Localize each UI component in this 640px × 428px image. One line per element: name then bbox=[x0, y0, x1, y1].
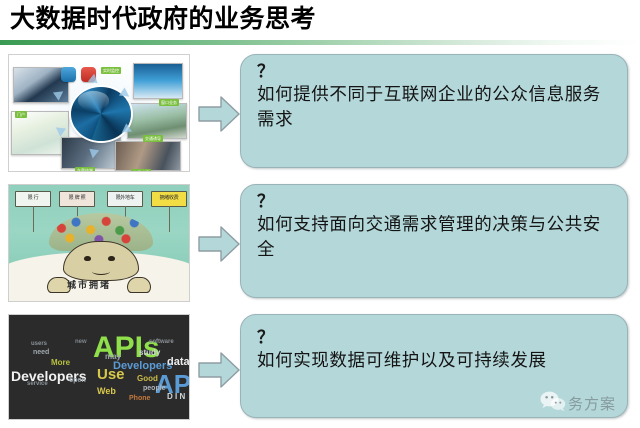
hub-tag: 交通诱导 bbox=[143, 135, 163, 142]
question-text: 如何实现数据可维护以及可持续发展 bbox=[257, 349, 613, 374]
flow-arrow-3 bbox=[197, 350, 241, 390]
word-cloud-word: open bbox=[69, 377, 86, 384]
hub-photo-smartphones bbox=[133, 63, 183, 99]
question-mark: ？ bbox=[257, 63, 613, 80]
question-mark: ？ bbox=[257, 329, 613, 346]
content-row: 实时监控 窗口业务 车载终端 出行广播 交通诱导 门户 ？ 如何提供不同于互联网… bbox=[0, 52, 640, 174]
question-callout-3[interactable]: ？ 如何实现数据可维护以及可持续发展 bbox=[240, 314, 628, 418]
question-callout-2[interactable]: ？ 如何支持面向交通需求管理的决策与公共安全 bbox=[240, 184, 628, 298]
content-row: APIsAPIDevelopersDevelopersdataUseWebGoo… bbox=[0, 312, 640, 428]
thumbnail-traffic-congestion: 限 行 限 牌 照 限外地车 拥堵收费 城市拥堵 bbox=[8, 184, 190, 302]
arrow-right-icon bbox=[197, 224, 241, 264]
thumbnail-public-info-service: 实时监控 窗口业务 车载终端 出行广播 交通诱导 门户 bbox=[8, 54, 190, 172]
hub-tag: 出行广播 bbox=[131, 169, 151, 172]
congestion-caption: 城市拥堵 bbox=[67, 278, 111, 291]
hub-flow-arrow-icon bbox=[88, 149, 99, 160]
word-cloud-word: More bbox=[51, 359, 70, 367]
question-text: 如何提供不同于互联网企业的公众信息服务需求 bbox=[257, 83, 613, 133]
policy-sign: 拥堵收费 bbox=[151, 191, 187, 207]
word-cloud-word: may bbox=[105, 353, 121, 361]
question-mark: ？ bbox=[257, 193, 613, 210]
word-cloud-word: users bbox=[31, 341, 47, 347]
word-cloud-word: Use bbox=[97, 367, 125, 382]
word-cloud-word: Web bbox=[97, 387, 116, 396]
face-eye-right bbox=[108, 256, 115, 261]
congestion-hand-right bbox=[127, 277, 151, 293]
hub-photo-highway-sign bbox=[127, 103, 187, 139]
question-text: 如何支持面向交通需求管理的决策与公共安全 bbox=[257, 213, 613, 263]
hub-tag: 门户 bbox=[15, 111, 27, 118]
flow-arrow-2 bbox=[197, 224, 241, 264]
question-callout-1[interactable]: ？ 如何提供不同于互联网企业的公众信息服务需求 bbox=[240, 54, 628, 168]
policy-sign: 限外地车 bbox=[107, 191, 143, 207]
face-mouth bbox=[92, 268, 110, 275]
word-cloud-word: Good bbox=[137, 375, 158, 383]
app-icon-blue bbox=[61, 67, 76, 82]
policy-sign: 限 行 bbox=[15, 191, 51, 207]
title-underline-rule bbox=[0, 40, 640, 45]
word-cloud-word: D I N bbox=[167, 393, 185, 401]
word-cloud-word: Phone bbox=[129, 395, 150, 402]
word-cloud-word: software bbox=[149, 339, 174, 345]
flow-arrow-1 bbox=[197, 94, 241, 134]
word-cloud-word: people bbox=[143, 385, 166, 392]
hub-tag: 车载终端 bbox=[75, 167, 95, 172]
hub-photo-broadcast-studio bbox=[115, 141, 181, 171]
word-cloud-word: new bbox=[75, 339, 87, 345]
word-cloud-word: need bbox=[33, 349, 49, 356]
word-cloud-word: study bbox=[139, 349, 160, 357]
face-eye-left bbox=[84, 256, 91, 261]
word-cloud-word: data bbox=[167, 357, 190, 368]
hub-flow-arrow-icon bbox=[88, 73, 99, 84]
page-title: 大数据时代政府的业务思考 bbox=[10, 6, 316, 32]
policy-sign: 限 牌 照 bbox=[59, 191, 95, 207]
arrow-right-icon bbox=[197, 94, 241, 134]
content-row: 限 行 限 牌 照 限外地车 拥堵收费 城市拥堵 ？ 如何支持面向交通需求管理的… bbox=[0, 182, 640, 304]
hub-tag: 实时监控 bbox=[101, 67, 121, 74]
word-cloud-word: service bbox=[27, 381, 48, 387]
arrow-right-icon bbox=[197, 350, 241, 390]
hub-tag: 窗口业务 bbox=[159, 99, 179, 106]
thumbnail-api-word-cloud: APIsAPIDevelopersDevelopersdataUseWebGoo… bbox=[8, 314, 190, 420]
